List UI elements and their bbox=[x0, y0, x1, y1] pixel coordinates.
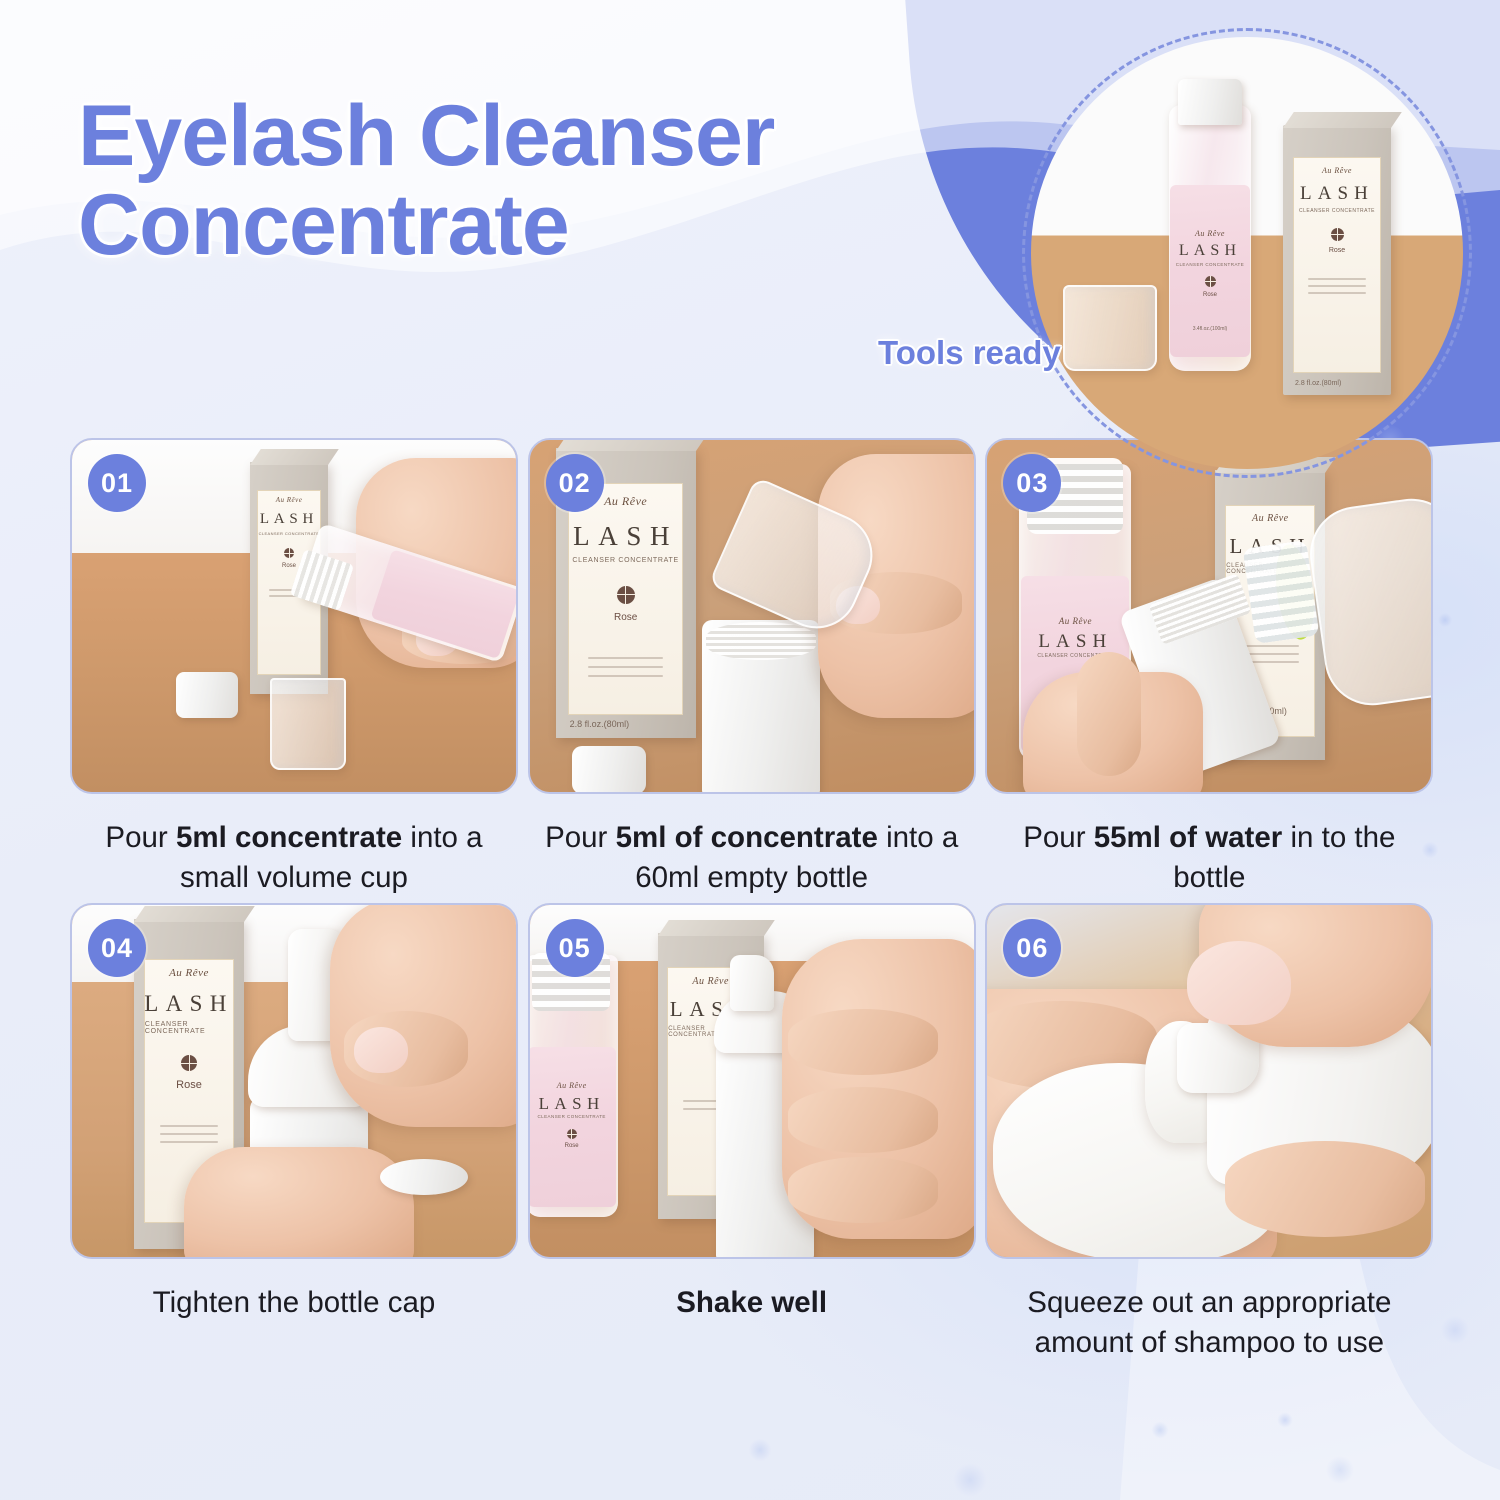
step-photo-05: Au Rêve LASH CLEANSER CONCENTRATE Rose A… bbox=[528, 903, 976, 1259]
box-top-face bbox=[658, 920, 775, 936]
hero-box-variant: Rose bbox=[1329, 247, 1345, 254]
fine-print-line bbox=[1308, 278, 1365, 280]
hero-bottle-subtitle: CLEANSER CONCENTRATE bbox=[1170, 262, 1250, 267]
step-caption: Tighten the bottle cap bbox=[70, 1283, 518, 1323]
step-cell-01: Au Rêve LASH CLEANSER CONCENTRATE Rose bbox=[70, 438, 518, 897]
step-photo-04: Au Rêve LASH CLEANSER CONCENTRATE Rose bbox=[70, 903, 518, 1259]
step-photo-01: Au Rêve LASH CLEANSER CONCENTRATE Rose bbox=[70, 438, 518, 794]
box-subtitle: CLEANSER CONCENTRATE bbox=[145, 1021, 233, 1035]
step-cell-03: Au Rêve LASH CLEANSER CONCENTRATE 2.8 fl… bbox=[985, 438, 1433, 897]
box-name: LASH bbox=[144, 991, 234, 1017]
hero-photo: Au Rêve LASH CLEANSER CONCENTRATE Rose 3… bbox=[1031, 37, 1463, 469]
hero-bottle-volume: 3.4fl.oz.(100ml) bbox=[1170, 326, 1250, 332]
water-bottle-threads bbox=[1243, 540, 1320, 644]
step-badge: 01 bbox=[88, 454, 146, 512]
finger bbox=[788, 1157, 938, 1223]
step-photo-06: 06 bbox=[985, 903, 1433, 1259]
hero-box-volume: 2.8 fl.oz.(80ml) bbox=[1295, 380, 1341, 387]
finger bbox=[788, 1087, 938, 1153]
box-volume: 2.8 fl.oz.(80ml) bbox=[570, 719, 630, 729]
step-caption: Pour 5ml concentrate into a small volume… bbox=[70, 818, 518, 897]
fine-print-line bbox=[160, 1125, 218, 1127]
step-cell-06: 06 Squeeze out an appropriate amount of … bbox=[985, 903, 1433, 1362]
step-badge: 03 bbox=[1003, 454, 1061, 512]
box-top-face bbox=[134, 906, 255, 922]
hero-measuring-cup bbox=[1063, 285, 1157, 371]
step-photo-02: Au Rêve LASH CLEANSER CONCENTRATE Rose 2… bbox=[528, 438, 976, 794]
hero-bottle-label: Au Rêve LASH CLEANSER CONCENTRATE Rose 3… bbox=[1170, 185, 1250, 357]
step-cell-02: Au Rêve LASH CLEANSER CONCENTRATE Rose 2… bbox=[528, 438, 976, 897]
flower-icon bbox=[567, 1129, 577, 1139]
step-caption: Pour 5ml of concentrate into a 60ml empt… bbox=[528, 818, 976, 897]
fine-print-line bbox=[588, 666, 662, 668]
fine-print-line bbox=[588, 657, 662, 659]
bottle-label: Au Rêve LASH CLEANSER CONCENTRATE Rose bbox=[528, 1047, 616, 1207]
bottle-name: LASH bbox=[1021, 631, 1129, 653]
tools-ready-label: Tools ready bbox=[878, 334, 1061, 372]
box-brand: Au Rêve bbox=[276, 496, 303, 504]
pump-nozzle bbox=[730, 955, 774, 1011]
bottle-neck-threads bbox=[706, 622, 816, 660]
fingernail bbox=[354, 1027, 408, 1073]
flower-icon bbox=[181, 1055, 197, 1071]
fine-print-line bbox=[1241, 645, 1299, 647]
hero-box-label: Au Rêve LASH CLEANSER CONCENTRATE Rose bbox=[1293, 157, 1382, 373]
bottle-brand: Au Rêve bbox=[528, 1081, 616, 1090]
box-brand: Au Rêve bbox=[604, 494, 647, 509]
bottle-brand: Au Rêve bbox=[1021, 616, 1129, 626]
box-subtitle: CLEANSER CONCENTRATE bbox=[259, 531, 320, 536]
measuring-cup bbox=[270, 678, 346, 770]
flower-icon bbox=[617, 586, 635, 604]
box-name: LASH bbox=[260, 511, 318, 528]
finger bbox=[1225, 1141, 1425, 1237]
fine-print-line bbox=[1308, 292, 1365, 294]
step-cell-04: Au Rêve LASH CLEANSER CONCENTRATE Rose bbox=[70, 903, 518, 1362]
box-name: LASH bbox=[573, 521, 678, 552]
box-label: Au Rêve LASH CLEANSER CONCENTRATE Rose bbox=[568, 483, 683, 715]
box-brand: Au Rêve bbox=[692, 976, 729, 987]
box-subtitle: CLEANSER CONCENTRATE bbox=[572, 557, 678, 564]
bottle-cap bbox=[176, 672, 238, 718]
hero-product-box: Au Rêve LASH CLEANSER CONCENTRATE Rose 2… bbox=[1283, 125, 1391, 395]
step-caption: Squeeze out an appropriate amount of sha… bbox=[985, 1283, 1433, 1362]
hero-bottle-cap bbox=[1178, 79, 1242, 125]
fine-print-line bbox=[588, 675, 662, 677]
steps-grid: Au Rêve LASH CLEANSER CONCENTRATE Rose bbox=[70, 438, 1434, 1362]
hero-box-name: LASH bbox=[1300, 183, 1374, 205]
hero-box-brand: Au Rêve bbox=[1322, 166, 1352, 175]
hero-bottle-name: LASH bbox=[1170, 242, 1250, 260]
fine-print-line bbox=[1308, 285, 1365, 287]
bottle-variant: Rose bbox=[528, 1143, 616, 1149]
hero-bottle-brand: Au Rêve bbox=[1170, 229, 1250, 238]
step-badge: 04 bbox=[88, 919, 146, 977]
step-caption: Pour 55ml of water in to the bottle bbox=[985, 818, 1433, 897]
box-top-face bbox=[250, 449, 339, 465]
hero-bottle-variant: Rose bbox=[1170, 292, 1250, 298]
box-brand: Au Rêve bbox=[169, 967, 209, 979]
box-brand: Au Rêve bbox=[1252, 513, 1289, 524]
step-badge: 05 bbox=[546, 919, 604, 977]
box-top-face bbox=[556, 438, 707, 451]
tools-ready-photo-circle: Au Rêve LASH CLEANSER CONCENTRATE Rose 3… bbox=[1022, 28, 1472, 478]
box-variant: Rose bbox=[614, 612, 637, 623]
flower-icon bbox=[1205, 276, 1216, 287]
page-title: Eyelash Cleanser Concentrate bbox=[78, 92, 978, 271]
step-caption: Shake well bbox=[528, 1283, 976, 1323]
hero-box-subtitle: CLEANSER CONCENTRATE bbox=[1299, 208, 1375, 214]
step-badge: 02 bbox=[546, 454, 604, 512]
loose-cap bbox=[572, 746, 646, 794]
hero-concentrate-bottle: Au Rêve LASH CLEANSER CONCENTRATE Rose 3… bbox=[1169, 105, 1251, 371]
box-variant: Rose bbox=[176, 1079, 202, 1091]
step-photo-03: Au Rêve LASH CLEANSER CONCENTRATE 2.8 fl… bbox=[985, 438, 1433, 794]
box-variant: Rose bbox=[282, 563, 296, 569]
fine-print-line bbox=[160, 1133, 218, 1135]
flower-icon bbox=[284, 548, 294, 558]
step-cell-05: Au Rêve LASH CLEANSER CONCENTRATE Rose A… bbox=[528, 903, 976, 1362]
hand-lower bbox=[184, 1147, 414, 1259]
fine-print-line bbox=[160, 1141, 218, 1143]
step-badge: 06 bbox=[1003, 919, 1061, 977]
infographic-page: Eyelash Cleanser Concentrate Au Rêve LAS… bbox=[0, 0, 1500, 1500]
finger bbox=[1077, 652, 1141, 776]
flower-icon bbox=[1331, 228, 1344, 241]
fingernail bbox=[1187, 941, 1291, 1025]
finger bbox=[788, 1009, 938, 1075]
box-top-face bbox=[1283, 112, 1402, 128]
loose-cap bbox=[380, 1159, 468, 1195]
bottle-subtitle: CLEANSER CONCENTRATE bbox=[528, 1114, 616, 1119]
bottle-name: LASH bbox=[528, 1094, 616, 1114]
